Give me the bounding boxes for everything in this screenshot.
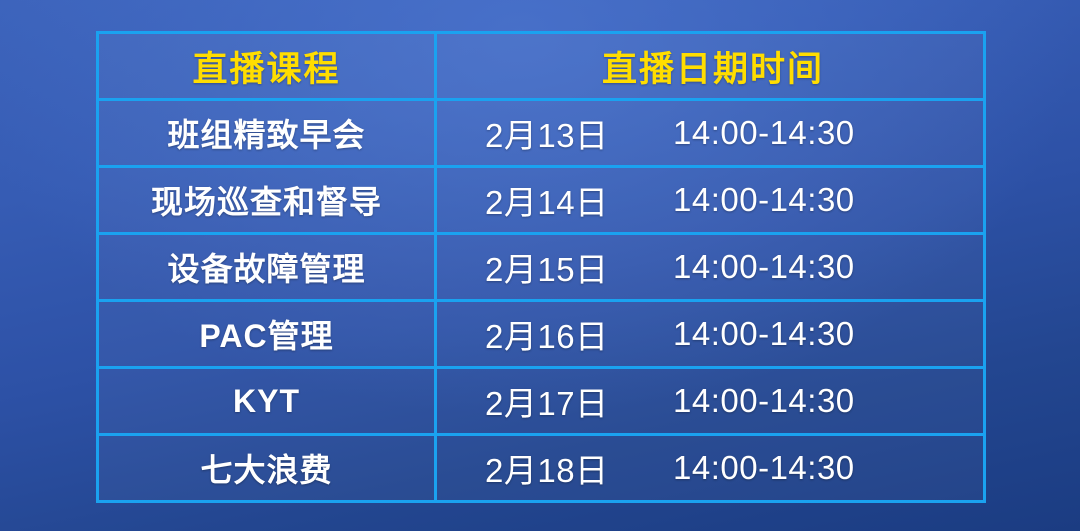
course-name: PAC管理 (199, 311, 333, 357)
cell-datetime: 2月17日 14:00-14:30 (437, 369, 983, 433)
cell-course: 班组精致早会 (99, 101, 437, 165)
broadcast-time: 14:00-14:30 (673, 382, 855, 420)
poster-background: 直播课程 直播日期时间 班组精致早会 2月13日 14:00-14:30 现场巡… (0, 0, 1080, 531)
cell-datetime: 2月13日 14:00-14:30 (437, 101, 983, 165)
header-cell-course: 直播课程 (99, 34, 437, 98)
cell-course: KYT (99, 369, 437, 433)
cell-datetime: 2月15日 14:00-14:30 (437, 235, 983, 299)
broadcast-date: 2月17日 (485, 377, 637, 425)
cell-course: 七大浪费 (99, 436, 437, 500)
broadcast-date: 2月14日 (485, 176, 637, 224)
course-name: KYT (233, 383, 300, 420)
broadcast-time: 14:00-14:30 (673, 181, 855, 219)
broadcast-date: 2月15日 (485, 243, 637, 291)
schedule-table: 直播课程 直播日期时间 班组精致早会 2月13日 14:00-14:30 现场巡… (96, 31, 986, 503)
cell-course: 现场巡查和督导 (99, 168, 437, 232)
table-header-row: 直播课程 直播日期时间 (99, 34, 983, 101)
datetime-group: 2月15日 14:00-14:30 (443, 243, 983, 291)
course-name: 班组精致早会 (167, 110, 365, 156)
broadcast-time: 14:00-14:30 (673, 449, 855, 487)
datetime-group: 2月18日 14:00-14:30 (443, 444, 983, 492)
table-row: KYT 2月17日 14:00-14:30 (99, 369, 983, 436)
cell-course: 设备故障管理 (99, 235, 437, 299)
broadcast-time: 14:00-14:30 (673, 114, 855, 152)
table-row: 现场巡查和督导 2月14日 14:00-14:30 (99, 168, 983, 235)
broadcast-time: 14:00-14:30 (673, 315, 855, 353)
broadcast-date: 2月13日 (485, 109, 637, 157)
table-row: 设备故障管理 2月15日 14:00-14:30 (99, 235, 983, 302)
cell-datetime: 2月16日 14:00-14:30 (437, 302, 983, 366)
cell-datetime: 2月14日 14:00-14:30 (437, 168, 983, 232)
broadcast-date: 2月18日 (485, 444, 637, 492)
table-row: PAC管理 2月16日 14:00-14:30 (99, 302, 983, 369)
table-row: 七大浪费 2月18日 14:00-14:30 (99, 436, 983, 500)
course-name: 现场巡查和督导 (151, 177, 382, 223)
datetime-group: 2月14日 14:00-14:30 (443, 176, 983, 224)
cell-datetime: 2月18日 14:00-14:30 (437, 436, 983, 500)
datetime-group: 2月17日 14:00-14:30 (443, 377, 983, 425)
datetime-group: 2月16日 14:00-14:30 (443, 310, 983, 358)
header-label-datetime: 直播日期时间 (602, 41, 824, 92)
cell-course: PAC管理 (99, 302, 437, 366)
header-cell-datetime: 直播日期时间 (437, 34, 983, 98)
broadcast-date: 2月16日 (485, 310, 637, 358)
course-name: 七大浪费 (200, 445, 332, 491)
course-name: 设备故障管理 (167, 244, 365, 290)
datetime-group: 2月13日 14:00-14:30 (443, 109, 983, 157)
broadcast-time: 14:00-14:30 (673, 248, 855, 286)
table-row: 班组精致早会 2月13日 14:00-14:30 (99, 101, 983, 168)
header-label-course: 直播课程 (192, 41, 340, 92)
